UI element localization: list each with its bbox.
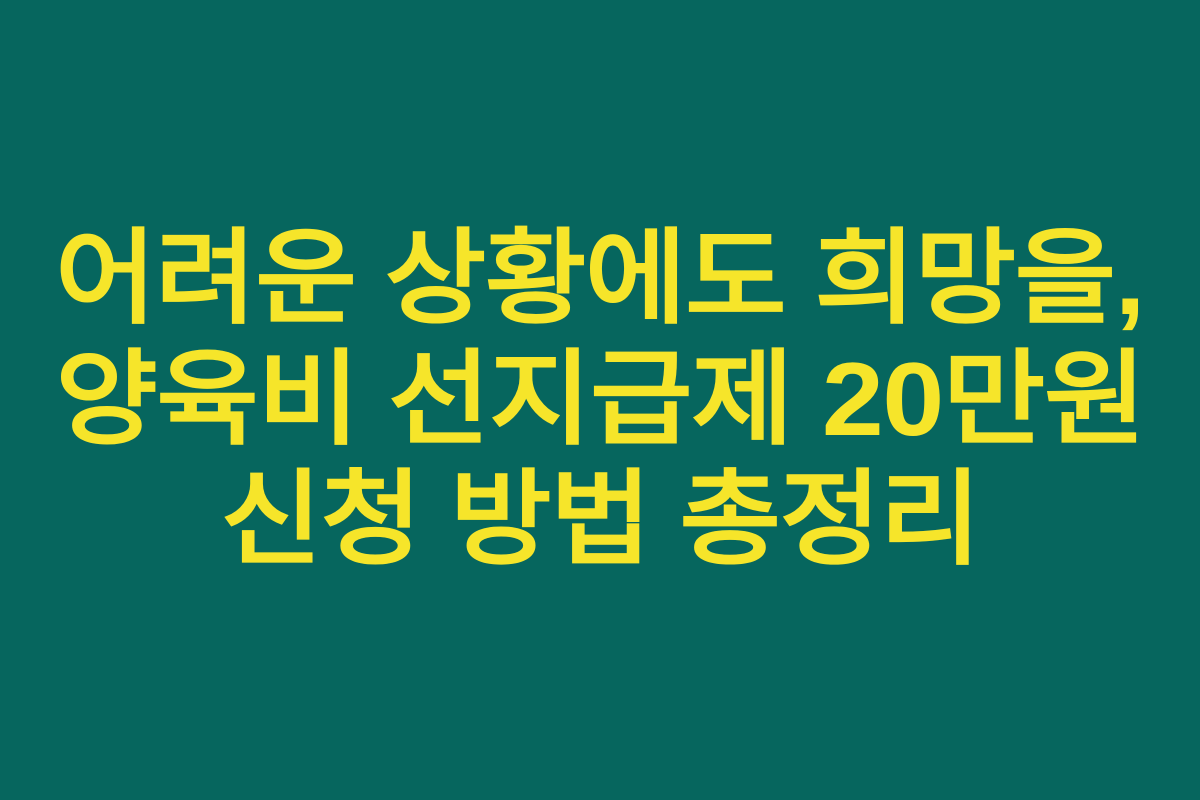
headline-block: 어려운 상황에도 희망을, 양육비 선지급제 20만원 신청 방법 총정리 (20, 219, 1180, 581)
headline-line-2: 양육비 선지급제 20만원 (55, 340, 1145, 461)
headline-line-1: 어려운 상황에도 희망을, (56, 219, 1145, 340)
banner-canvas: 어려운 상황에도 희망을, 양육비 선지급제 20만원 신청 방법 총정리 (0, 0, 1200, 800)
headline-line-3: 신청 방법 총정리 (220, 460, 979, 581)
